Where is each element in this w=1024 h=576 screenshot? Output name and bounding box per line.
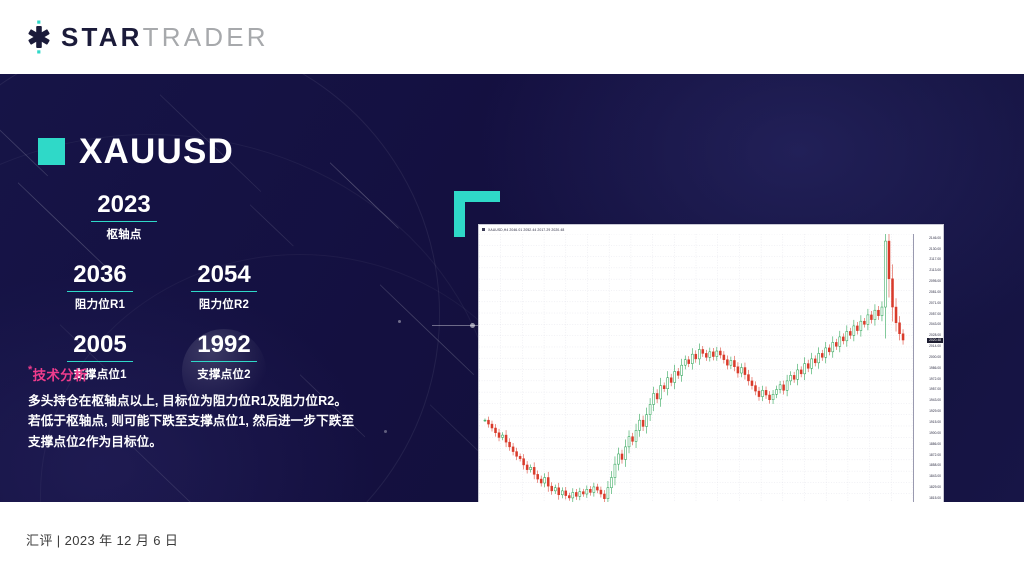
y-tick-label: 2113.00 bbox=[929, 269, 941, 272]
level-resistance-1: 2036 阻力位R1 bbox=[38, 262, 162, 312]
spacer bbox=[38, 242, 298, 262]
y-tick-label: 1843.00 bbox=[929, 475, 941, 478]
level-value: 2054 bbox=[191, 262, 256, 292]
chart-title: XAUUSD,H4 2046.01 2052.44 2017.29 2020.4… bbox=[488, 228, 564, 232]
page-footer: 汇评 | 2023 年 12 月 6 日 bbox=[0, 502, 1024, 576]
level-pivot: 2023 枢轴点 bbox=[62, 192, 186, 242]
y-tick-label: 1986.00 bbox=[929, 367, 941, 370]
current-price-tag: 2020.48 bbox=[927, 338, 943, 343]
level-value: 2036 bbox=[67, 262, 132, 292]
y-tick-label: 1900.00 bbox=[929, 432, 941, 435]
levels-row-pivot: 2023 枢轴点 bbox=[38, 192, 298, 242]
y-tick-label: 1815.00 bbox=[929, 497, 941, 500]
technical-analysis: *技术分析 多头持仓在枢轴点以上, 目标位为阻力位R1及阻力位R2。 若低于枢轴… bbox=[28, 364, 358, 452]
y-tick-label: 2057.00 bbox=[929, 313, 941, 316]
y-tick-label: 2071.00 bbox=[929, 302, 941, 305]
chart-window-icon bbox=[482, 228, 485, 231]
level-label: 阻力位R1 bbox=[38, 296, 162, 312]
level-label: 枢轴点 bbox=[62, 226, 186, 242]
analysis-line-3: 支撑点位2作为目标位。 bbox=[28, 432, 358, 452]
main-stage: XAUUSD 2023 枢轴点 2036 阻力位R1 2054 阻力位R2 20… bbox=[0, 74, 1024, 502]
y-tick-label: 1886.00 bbox=[929, 443, 941, 446]
analysis-heading: *技术分析 bbox=[28, 364, 358, 384]
decor-dot bbox=[398, 320, 401, 323]
levels-row-resistance: 2036 阻力位R1 2054 阻力位R2 bbox=[38, 262, 298, 312]
y-tick-label: 1872.00 bbox=[929, 454, 941, 457]
page-header: STARTRADER bbox=[0, 0, 1024, 74]
brand-trader: TRADER bbox=[143, 22, 269, 52]
page-title: XAUUSD bbox=[38, 134, 234, 169]
footer-caption: 汇评 | 2023 年 12 月 6 日 bbox=[26, 530, 178, 549]
analysis-heading-text: 技术分析 bbox=[33, 368, 88, 383]
y-tick-label: 1972.00 bbox=[929, 378, 941, 381]
level-resistance-2: 2054 阻力位R2 bbox=[162, 262, 286, 312]
decor-dot bbox=[384, 430, 387, 433]
y-tick-label: 2043.00 bbox=[929, 323, 941, 326]
analysis-body: 多头持仓在枢轴点以上, 目标位为阻力位R1及阻力位R2。 若低于枢轴点, 则可能… bbox=[28, 391, 358, 452]
y-tick-label: 2014.00 bbox=[929, 345, 941, 348]
decor-dot-marker bbox=[470, 323, 475, 328]
level-value: 1992 bbox=[191, 332, 256, 362]
level-label: 阻力位R2 bbox=[162, 296, 286, 312]
level-value: 2005 bbox=[67, 332, 132, 362]
brand-logo: STARTRADER bbox=[24, 20, 269, 54]
analysis-line-1: 多头持仓在枢轴点以上, 目标位为阻力位R1及阻力位R2。 bbox=[28, 391, 358, 411]
y-tick-label: 1858.00 bbox=[929, 464, 941, 467]
chart-title-bar: XAUUSD,H4 2046.01 2052.44 2017.29 2020.4… bbox=[479, 225, 943, 234]
y-tick-label: 1829.00 bbox=[929, 486, 941, 489]
chart-price-axis[interactable]: 2146.002130.002117.002113.002095.002081.… bbox=[913, 234, 943, 502]
price-chart-panel[interactable]: XAUUSD,H4 2046.01 2052.44 2017.29 2020.4… bbox=[478, 224, 944, 502]
y-tick-label: 2081.00 bbox=[929, 291, 941, 294]
candlestick-series bbox=[479, 234, 913, 502]
symbol-name: XAUUSD bbox=[79, 134, 234, 169]
chart-plot-area[interactable] bbox=[479, 234, 913, 502]
y-tick-label: 1929.00 bbox=[929, 410, 941, 413]
y-tick-label: 2146.00 bbox=[929, 237, 941, 240]
y-tick-label: 1915.00 bbox=[929, 421, 941, 424]
y-tick-label: 1957.00 bbox=[929, 388, 941, 391]
title-accent-square bbox=[38, 138, 65, 165]
level-value: 2023 bbox=[91, 192, 156, 222]
brand-star: STAR bbox=[61, 22, 143, 52]
y-tick-label: 2000.00 bbox=[929, 356, 941, 359]
y-tick-label: 2095.00 bbox=[929, 280, 941, 283]
y-tick-label: 2117.00 bbox=[929, 258, 941, 261]
brand-wordmark: STARTRADER bbox=[61, 24, 269, 50]
y-tick-label: 2130.00 bbox=[929, 248, 941, 251]
y-tick-label: 1943.00 bbox=[929, 399, 941, 402]
analysis-line-2: 若低于枢轴点, 则可能下跌至支撑点位1, 然后进一步下跌至 bbox=[28, 411, 358, 431]
y-tick-label: 2028.00 bbox=[929, 334, 941, 337]
pivot-levels: 2023 枢轴点 2036 阻力位R1 2054 阻力位R2 2005 支撑点位… bbox=[38, 192, 298, 382]
spacer bbox=[38, 312, 298, 332]
star-icon bbox=[24, 20, 54, 54]
